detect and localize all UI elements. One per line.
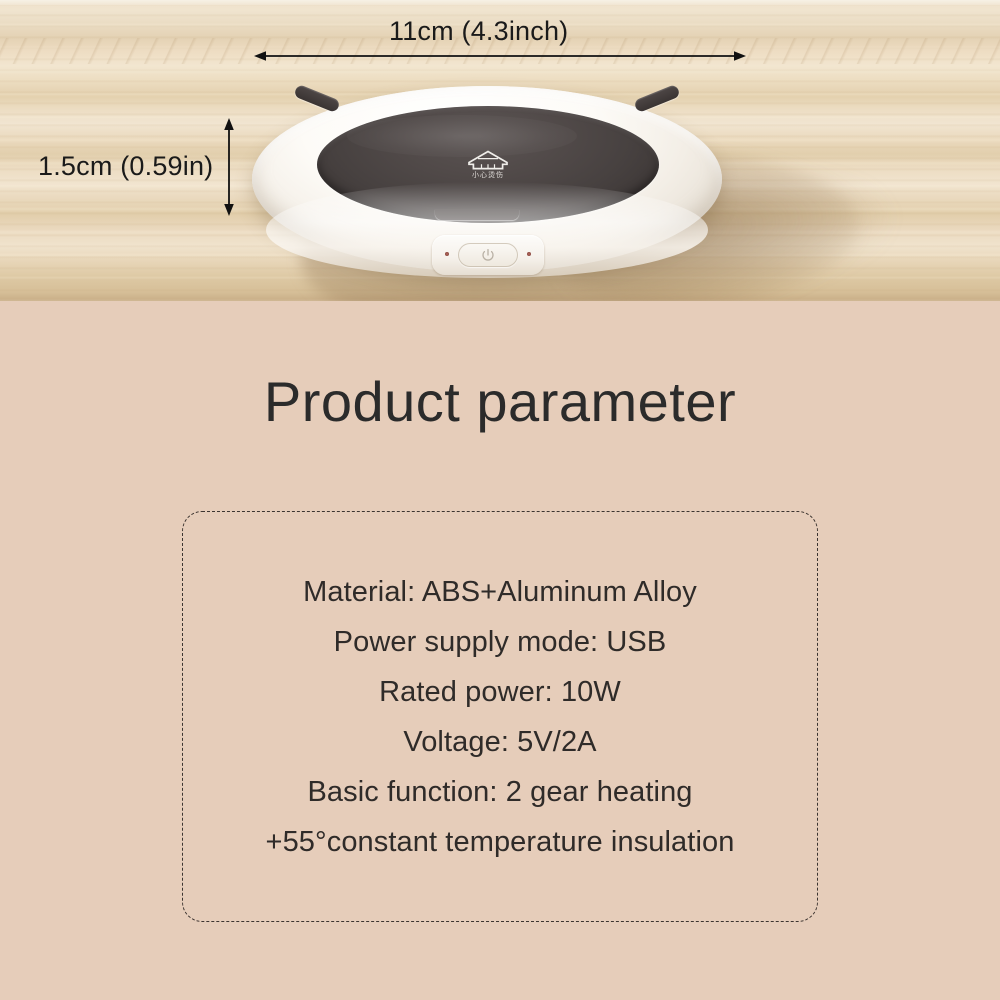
wood-top-edge — [0, 0, 1000, 5]
brand-logo-text: 小心烫伤 — [452, 171, 524, 179]
product-photo-section: 小心烫伤 11cm (4.3inch) — [0, 0, 1000, 301]
spec-line-voltage: Voltage: 5V/2A — [403, 717, 596, 767]
spec-line-basic-function: Basic function: 2 gear heating — [307, 767, 692, 817]
spec-line-rated-power: Rated power: 10W — [379, 667, 621, 717]
heating-plate: 小心烫伤 — [317, 106, 659, 223]
control-panel — [432, 235, 544, 275]
spec-line-temperature: +55°constant temperature insulation — [266, 817, 735, 867]
spec-line-material: Material: ABS+Aluminum Alloy — [303, 567, 697, 617]
brand-logo: 小心烫伤 — [452, 150, 524, 179]
house-roof-icon — [466, 150, 510, 170]
product-infographic: 小心烫伤 11cm (4.3inch) — [0, 0, 1000, 1000]
power-symbol-icon — [481, 248, 495, 262]
width-dimension-arrow — [254, 47, 746, 65]
rubber-grip-right — [633, 84, 681, 113]
led-indicator-left — [445, 252, 449, 256]
spec-list-box: Material: ABS+Aluminum Alloy Power suppl… — [182, 511, 818, 922]
height-dimension-arrow — [219, 118, 239, 216]
cup-warmer-device: 小心烫伤 — [252, 86, 722, 286]
plate-front-tab — [435, 209, 519, 220]
page-title: Product parameter — [0, 369, 1000, 434]
width-dimension-label: 11cm (4.3inch) — [389, 16, 568, 47]
height-dimension-label: 1.5cm (0.59in) — [38, 151, 213, 182]
led-indicator-right — [527, 252, 531, 256]
product-parameter-section: Product parameter Material: ABS+Aluminum… — [0, 301, 1000, 1000]
power-button[interactable] — [458, 243, 518, 267]
spec-line-power-supply: Power supply mode: USB — [334, 617, 667, 667]
rubber-grip-left — [293, 84, 341, 113]
